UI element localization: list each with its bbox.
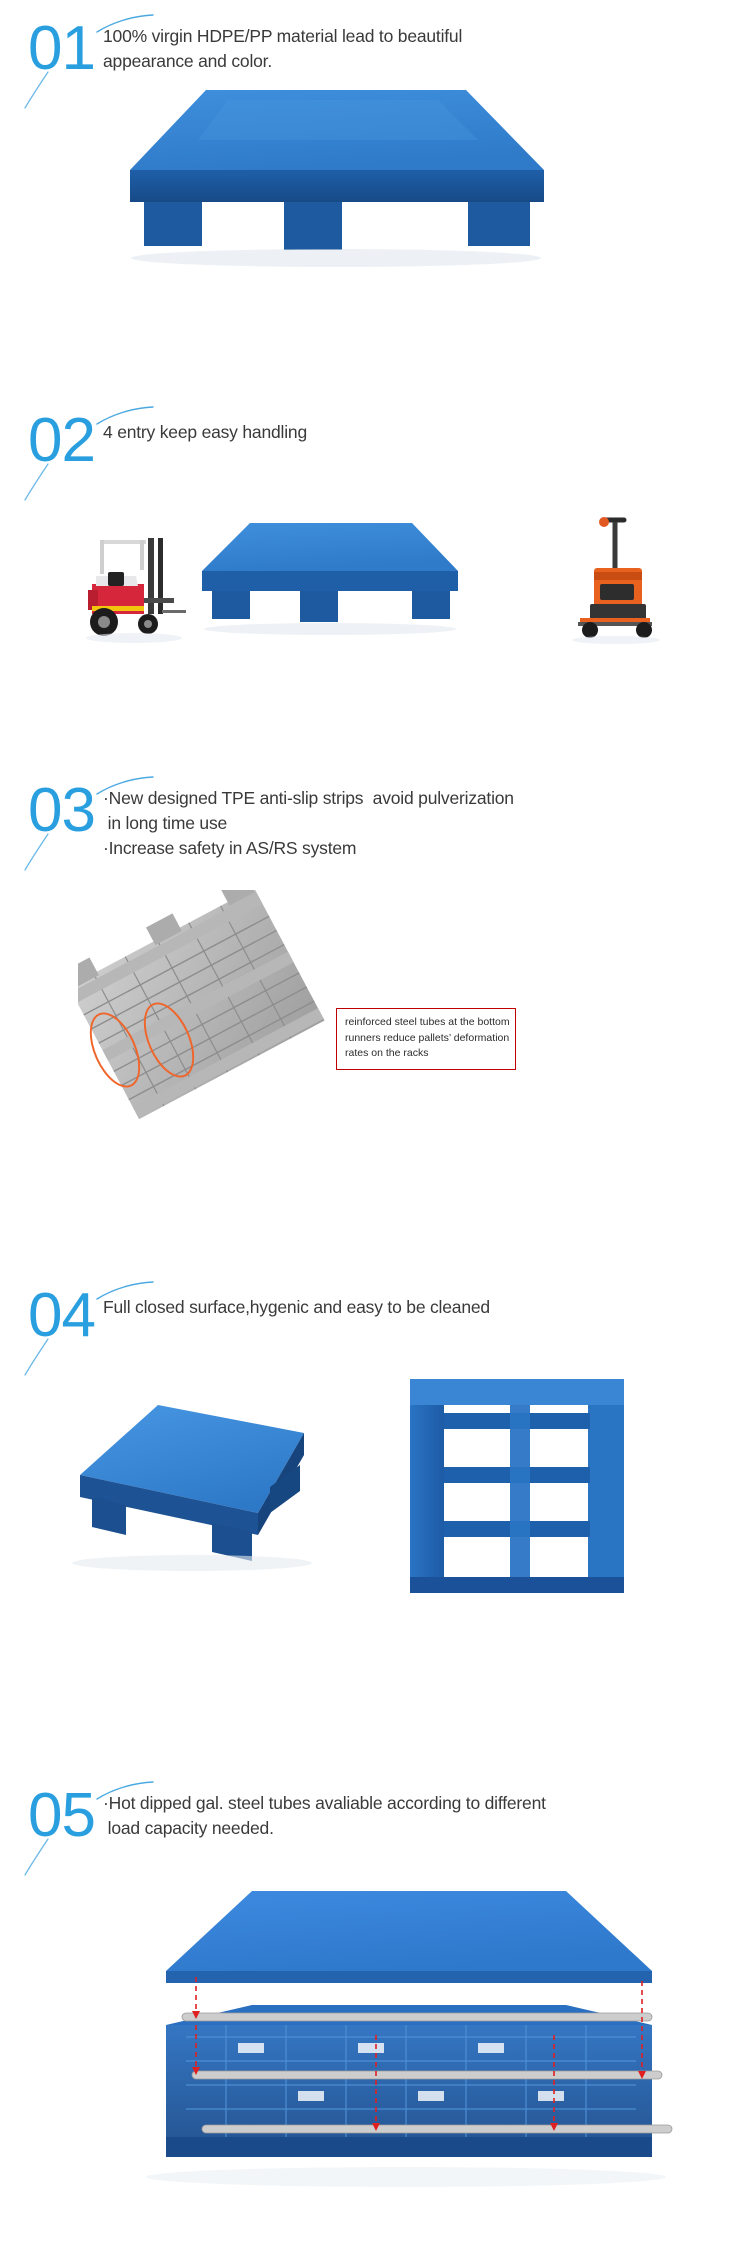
section-header-02: 02 4 entry keep easy handling [0,410,750,500]
feature-section-02: 02 4 entry keep easy handling [0,410,750,500]
feature-section-05: 05 ·Hot dipped gal. steel tubes avaliabl… [0,1785,750,1875]
pallet-photo-01 [78,78,548,273]
section-text-01: 100% virgin HDPE/PP material lead to bea… [103,24,723,74]
section-number-02: 02 [28,410,95,472]
pallet-photo-04-side [392,1371,642,1601]
feature-section-03: 03 ·New designed TPE anti-slip strips av… [0,780,750,870]
section-text-line: 100% virgin HDPE/PP material lead to bea… [103,24,723,49]
annotation-box-steel-tubes: reinforced steel tubes at the bottom run… [336,1008,516,1070]
feature-section-04: 04 Full closed surface,hygenic and easy … [0,1285,750,1375]
section-text-line: 4 entry keep easy handling [103,420,723,445]
section-header-05: 05 ·Hot dipped gal. steel tubes avaliabl… [0,1785,750,1875]
section-text-04: Full closed surface,hygenic and easy to … [103,1295,723,1320]
section-text-line: load capacity needed. [103,1816,723,1841]
section-text-line: appearance and color. [103,49,723,74]
section-text-02: 4 entry keep easy handling [103,420,723,445]
section-header-04: 04 Full closed surface,hygenic and easy … [0,1285,750,1375]
pallet-photo-04-top [62,1395,362,1585]
section-text-line: ·New designed TPE anti-slip strips avoid… [103,786,723,811]
annotation-line: runners reduce pallets’ deformation [345,1031,507,1047]
section-text-line: ·Increase safety in AS/RS system [103,836,723,861]
annotation-line: reinforced steel tubes at the bottom [345,1015,507,1031]
section-text-line: Full closed surface,hygenic and easy to … [103,1295,723,1320]
section-text-03: ·New designed TPE anti-slip strips avoid… [103,786,723,861]
section-text-line: ·Hot dipped gal. steel tubes avaliable a… [103,1791,723,1816]
pallet-underside-photo [78,890,338,1125]
section-number-01: 01 [28,18,95,80]
annotation-line: rates on the racks [345,1046,507,1062]
product-feature-page: 01 100% virgin HDPE/PP material lead to … [0,0,750,2261]
section-number-04: 04 [28,1285,95,1347]
section-number-05: 05 [28,1785,95,1847]
section-number-03: 03 [28,780,95,842]
pallet-exploded-cad-view [46,1885,706,2225]
forklift-image [78,532,190,647]
feature-section-01: 01 100% virgin HDPE/PP material lead to … [0,18,750,108]
section-header-03: 03 ·New designed TPE anti-slip strips av… [0,780,750,870]
section-text-05: ·Hot dipped gal. steel tubes avaliable a… [103,1791,723,1841]
section-text-line: in long time use [103,811,723,836]
pallet-jack-image [560,510,672,645]
pallet-photo-02 [172,515,462,650]
